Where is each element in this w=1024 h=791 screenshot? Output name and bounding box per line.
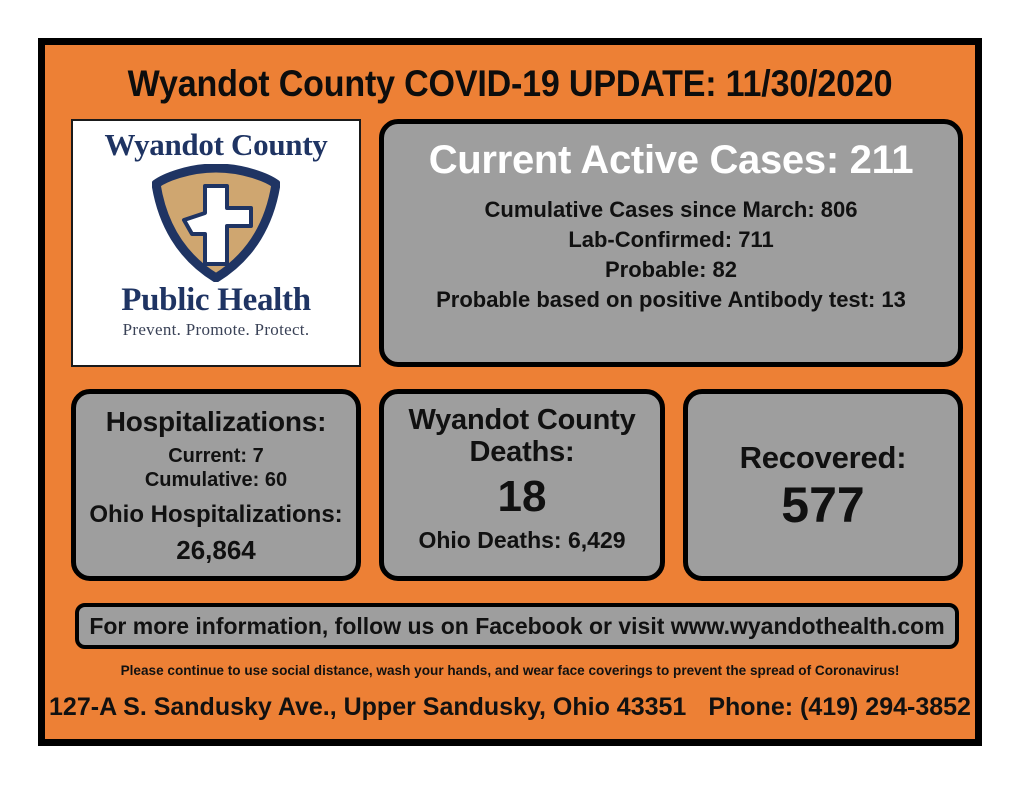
probable-line: Probable: 82 [605, 259, 737, 281]
deaths-card: Wyandot County Deaths: 18 Ohio Deaths: 6… [379, 389, 665, 581]
deaths-heading-line2: Deaths: [470, 436, 575, 468]
health-department-logo: Wyandot County Public Health Prevent. Pr… [71, 119, 361, 367]
phone-number: Phone: (419) 294-3852 [708, 693, 971, 721]
deaths-heading-line1: Wyandot County [408, 404, 635, 436]
probable-antibody-line: Probable based on positive Antibody test… [436, 289, 906, 311]
page-title: Wyandot County COVID-19 UPDATE: 11/30/20… [82, 63, 938, 105]
hospitalizations-card: Hospitalizations: Current: 7 Cumulative:… [71, 389, 361, 581]
address-text: 127-A S. Sandusky Ave., Upper Sandusky, … [49, 693, 617, 721]
shield-cross-icon [152, 164, 280, 282]
more-information-bar[interactable]: For more information, follow us on Faceb… [75, 603, 959, 649]
ohio-hospitalizations-label: Ohio Hospitalizations: [89, 501, 342, 529]
contact-row: 127-A S. Sandusky Ave., Upper Sandusky, … [45, 693, 975, 722]
hospitalizations-current: Current: 7 [168, 445, 264, 468]
logo-tagline: Prevent. Promote. Protect. [123, 320, 310, 340]
ohio-deaths-line: Ohio Deaths: 6,429 [418, 527, 625, 554]
hospitalizations-heading: Hospitalizations: [106, 406, 327, 438]
logo-top-line: Wyandot County [105, 129, 328, 162]
active-cases-card: Current Active Cases: 211 Cumulative Cas… [379, 119, 963, 367]
zip-code: 43351 [617, 693, 687, 721]
recovered-card: Recovered: 577 [683, 389, 963, 581]
recovered-heading: Recovered: [740, 440, 907, 476]
active-cases-headline: Current Active Cases: 211 [429, 138, 914, 183]
covid-update-poster: Wyandot County COVID-19 UPDATE: 11/30/20… [38, 38, 982, 746]
cumulative-cases-line: Cumulative Cases since March: 806 [485, 199, 858, 221]
safety-notice: Please continue to use social distance, … [59, 662, 961, 678]
hospitalizations-cumulative: Cumulative: 60 [145, 469, 287, 492]
more-information-text: For more information, follow us on Faceb… [89, 613, 944, 640]
deaths-count: 18 [498, 475, 547, 519]
ohio-hospitalizations-value: 26,864 [176, 535, 256, 566]
logo-bottom-line: Public Health [121, 284, 311, 317]
recovered-count: 577 [781, 480, 864, 530]
lab-confirmed-line: Lab-Confirmed: 711 [568, 229, 773, 251]
